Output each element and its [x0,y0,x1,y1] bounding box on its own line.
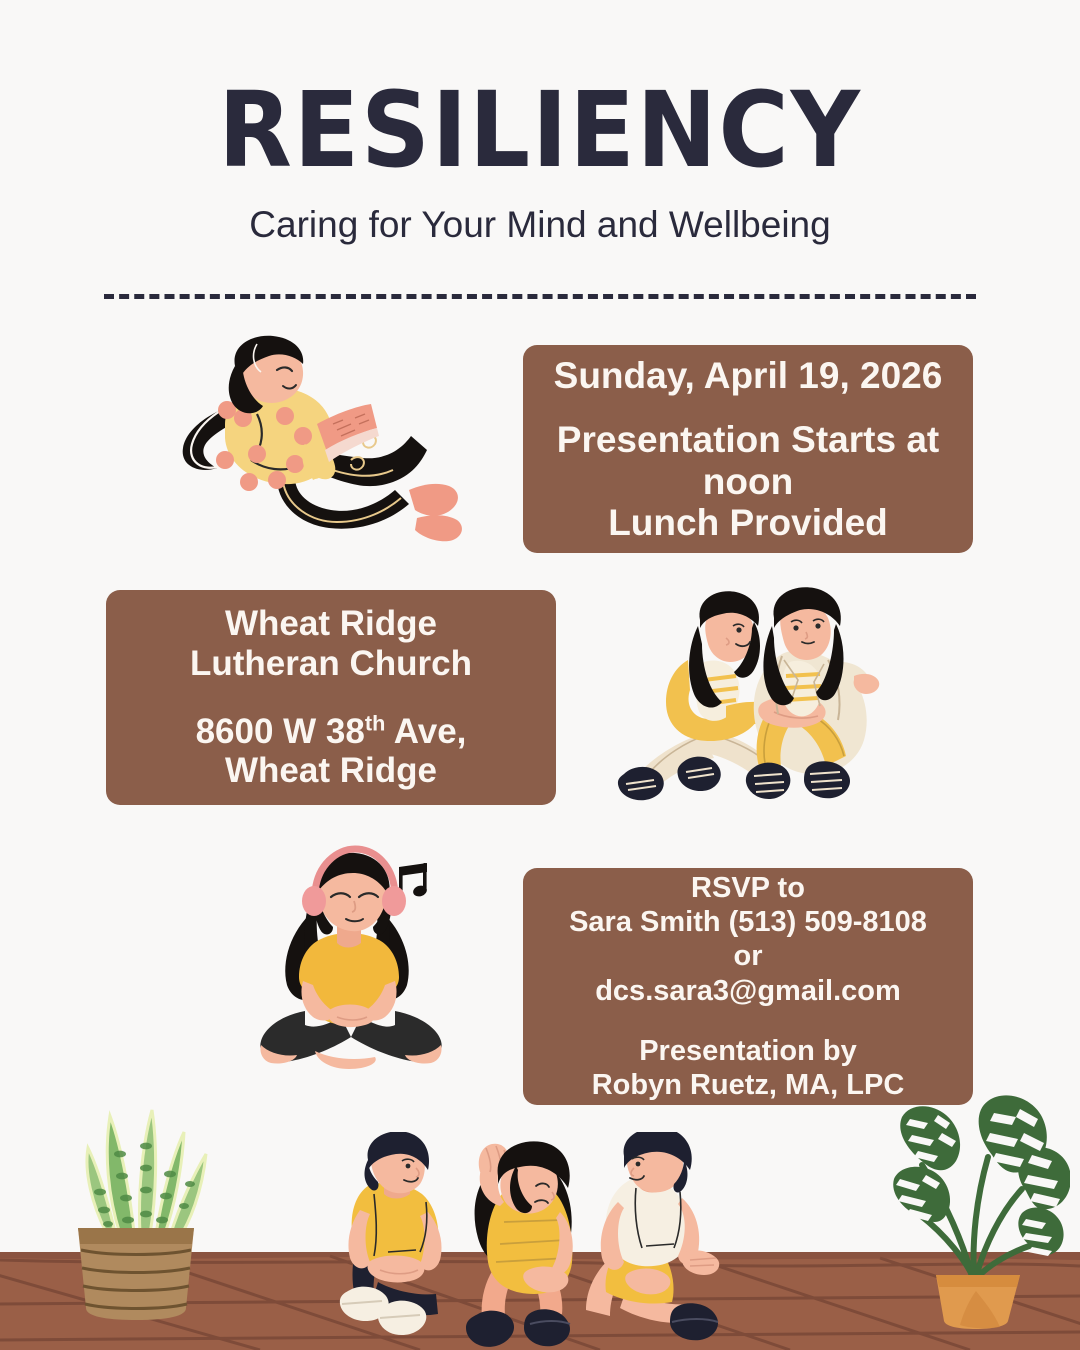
meditation-illustration [255,845,475,1090]
venue-line-1: Wheat Ridge [225,604,437,643]
snake-plant-illustration [48,1092,228,1322]
address-city: Wheat Ridge [225,751,437,790]
event-time-details: Presentation Starts at noon Lunch Provid… [537,419,959,543]
friends-illustration [606,584,886,816]
address-street-rest: Ave, [385,712,466,751]
group-illustration [330,1132,740,1350]
venue-name: Wheat Ridge Lutheran Church [190,604,472,684]
location-box: Wheat Ridge Lutheran Church 8600 W 38th … [106,590,556,805]
date-time-box: Sunday, April 19, 2026 Presentation Star… [523,345,973,553]
page-title: RESILIENCY [43,78,1037,182]
dashed-divider [104,294,976,299]
address-ordinal-suffix: th [365,710,385,735]
address-number: 8600 W 38 [196,712,365,751]
page-subtitle: Caring for Your Mind and Wellbeing [0,205,1080,246]
event-date: Sunday, April 19, 2026 [554,355,943,398]
venue-line-2: Lutheran Church [190,644,472,683]
monstera-plant-illustration [880,1095,1070,1330]
rsvp-or: or [734,940,763,972]
presentation-time: Presentation Starts at noon [557,419,939,501]
reader-illustration [165,332,485,562]
rsvp-contact-name-phone: Sara Smith (513) 509-8108 [569,906,927,938]
rsvp-email[interactable]: dcs.sara3@gmail.com [595,975,901,1007]
rsvp-contact-info: RSVP to Sara Smith (513) 509-8108 or dcs… [569,871,927,1008]
presenter-info: Presentation by Robyn Ruetz, MA, LPC [592,1034,905,1102]
presenter-name: Robyn Ruetz, MA, LPC [592,1069,905,1101]
venue-address: 8600 W 38th Ave, Wheat Ridge [196,712,467,792]
presented-by-label: Presentation by [639,1035,857,1067]
poster-canvas: RESILIENCY Caring for Your Mind and Well… [0,0,1080,1350]
rsvp-box: RSVP to Sara Smith (513) 509-8108 or dcs… [523,868,973,1105]
lunch-note: Lunch Provided [608,502,888,543]
rsvp-label: RSVP to [691,872,805,904]
